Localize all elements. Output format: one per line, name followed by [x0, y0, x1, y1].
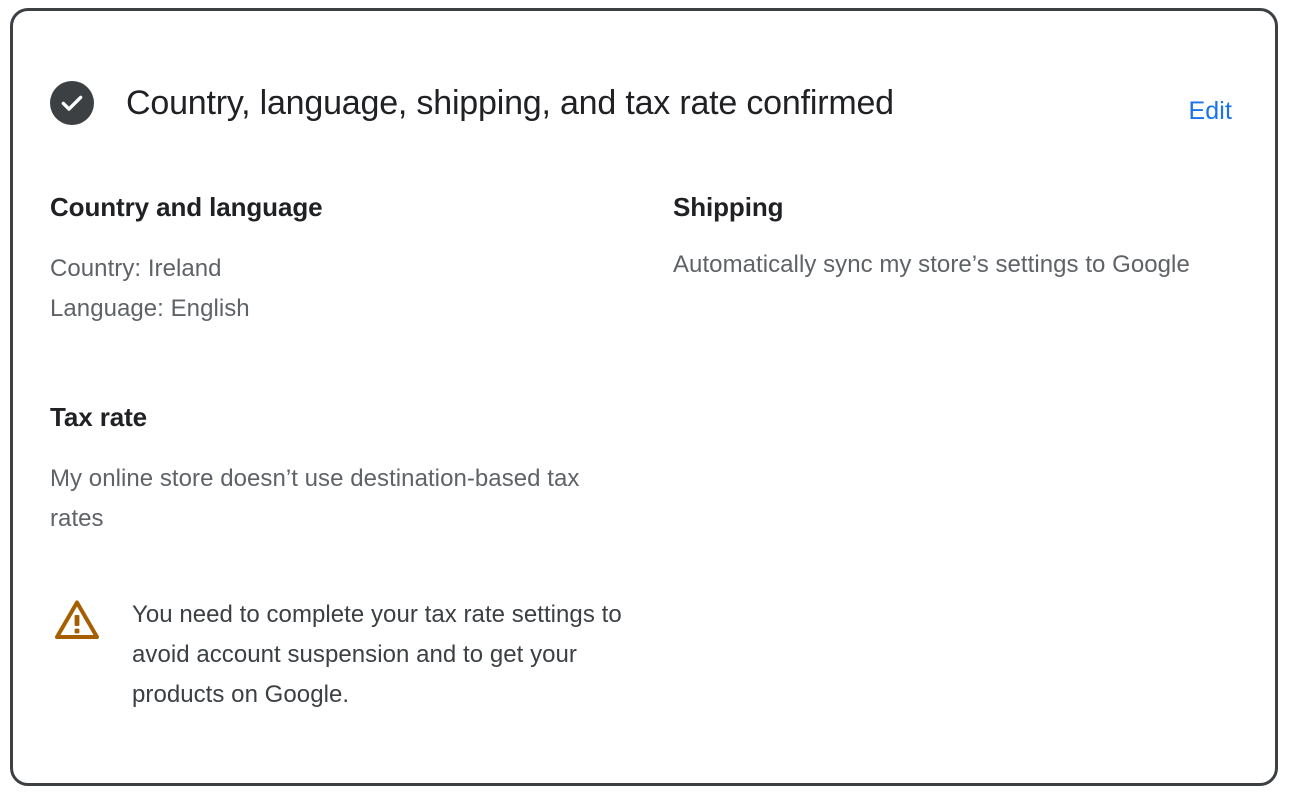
screen-root: Country, language, shipping, and tax rat… [0, 0, 1296, 800]
country-language-heading: Country and language [50, 191, 673, 223]
country-value: Country: Ireland [50, 249, 673, 289]
language-value: Language: English [50, 289, 673, 329]
tax-rate-heading: Tax rate [50, 401, 673, 433]
section-tax-rate: Tax rate My online store doesn’t use des… [50, 401, 673, 715]
tax-rate-warning: You need to complete your tax rate setti… [50, 595, 673, 715]
section-country-and-language: Country and language Country: Ireland La… [50, 191, 673, 329]
tax-rate-value: My online store doesn’t use destination-… [50, 459, 590, 539]
card-header: Country, language, shipping, and tax rat… [13, 11, 1275, 161]
left-column: Country and language Country: Ireland La… [50, 191, 673, 715]
setup-summary-card: Country, language, shipping, and tax rat… [10, 8, 1278, 786]
shipping-value: Automatically sync my store’s settings t… [673, 245, 1203, 285]
shipping-heading: Shipping [673, 191, 1238, 223]
edit-button[interactable]: Edit [1189, 96, 1232, 126]
card-body: Country and language Country: Ireland La… [50, 191, 1238, 715]
card-header-left: Country, language, shipping, and tax rat… [50, 81, 894, 125]
tax-rate-warning-text: You need to complete your tax rate setti… [132, 595, 632, 715]
check-circle-icon [50, 81, 94, 125]
page-title: Country, language, shipping, and tax rat… [126, 83, 894, 123]
warning-triangle-icon [54, 599, 100, 641]
right-column: Shipping Automatically sync my store’s s… [673, 191, 1238, 715]
section-shipping: Shipping Automatically sync my store’s s… [673, 191, 1238, 285]
